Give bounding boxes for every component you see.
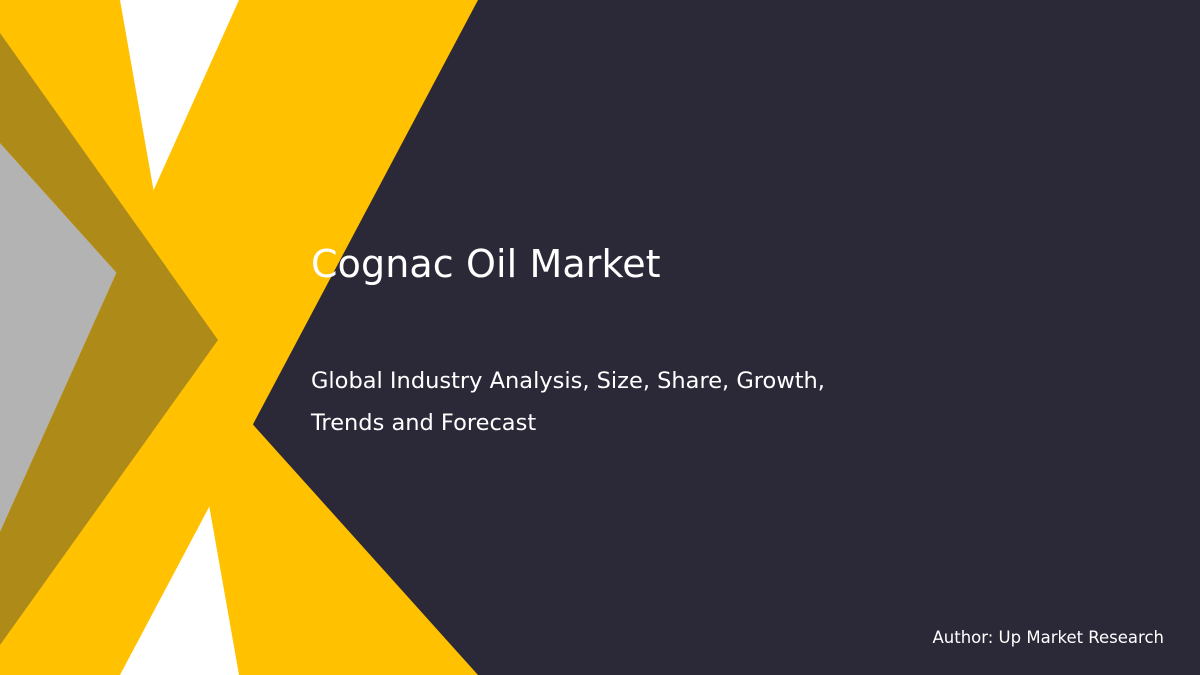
author-credit: Author: Up Market Research [932,628,1164,647]
subtitle-line-2: Trends and Forecast [311,402,951,444]
subtitle-line-1: Global Industry Analysis, Size, Share, G… [311,360,951,402]
slide-content: Cognac Oil Market Global Industry Analys… [0,0,1200,675]
page-title: Cognac Oil Market [311,243,661,287]
title-slide: Cognac Oil Market Global Industry Analys… [0,0,1200,675]
page-subtitle: Global Industry Analysis, Size, Share, G… [311,360,951,444]
